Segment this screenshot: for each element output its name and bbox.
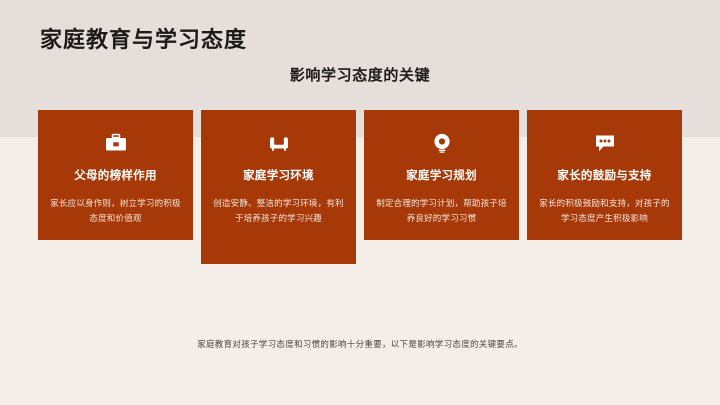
card-body: 制定合理的学习计划，帮助孩子培养良好的学习习惯: [376, 196, 507, 226]
card-title: 家庭学习环境: [243, 168, 314, 184]
page-title: 家庭教育与学习态度: [40, 27, 247, 53]
card-body: 创造安静、整洁的学习环境，有利于培养孩子的学习兴趣: [213, 196, 344, 226]
footer-note: 家庭教育对孩子学习态度和习惯的影响十分重要，以下是影响学习态度的关键要点。: [0, 337, 720, 351]
card-title: 家长的鼓励与支持: [557, 168, 651, 184]
card-home-study-environment[interactable]: 家庭学习环境 创造安静、整洁的学习环境，有利于培养孩子的学习兴趣: [201, 110, 356, 264]
card-title: 父母的榜样作用: [74, 168, 157, 184]
page-subtitle: 影响学习态度的关键: [0, 66, 720, 86]
slide-root: 家庭教育与学习态度 影响学习态度的关键 父母的榜样作用 家长应以身作则，树立学习…: [0, 0, 720, 405]
card-parent-role-model[interactable]: 父母的榜样作用 家长应以身作则，树立学习的积极态度和价值观: [38, 110, 193, 240]
card-parent-encouragement-support[interactable]: 家长的鼓励与支持 家长的积极鼓励和支持，对孩子的学习态度产生积极影响: [527, 110, 682, 240]
ring-target-icon: [429, 130, 455, 156]
toolbox-icon: [103, 130, 129, 156]
card-home-study-planning[interactable]: 家庭学习规划 制定合理的学习计划，帮助孩子培养良好的学习习惯: [364, 110, 519, 240]
card-title: 家庭学习规划: [406, 168, 477, 184]
card-grid: 父母的榜样作用 家长应以身作则，树立学习的积极态度和价值观 家庭学习环境 创造安…: [38, 110, 691, 264]
card-body: 家长应以身作则，树立学习的积极态度和价值观: [50, 196, 181, 226]
armchair-icon: [266, 130, 292, 156]
speech-bubble-icon: [592, 130, 618, 156]
card-body: 家长的积极鼓励和支持，对孩子的学习态度产生积极影响: [539, 196, 670, 226]
